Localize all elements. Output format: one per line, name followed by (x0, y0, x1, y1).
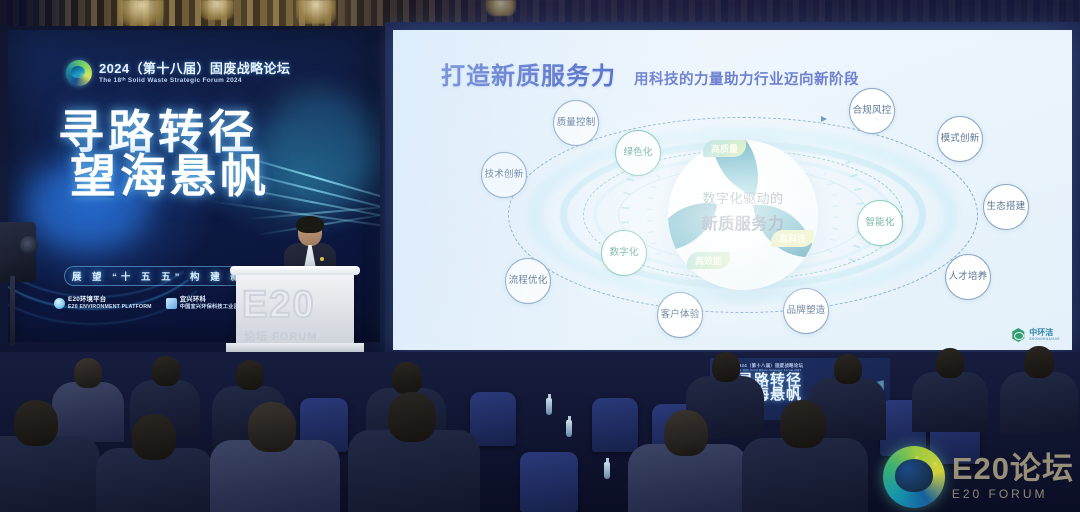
square-mark-icon (166, 298, 177, 309)
e20-circle-mark-icon (54, 298, 65, 309)
logo-dots (913, 454, 939, 480)
hexagon-leaf-icon (1011, 328, 1025, 342)
node-digitalization[interactable]: 数字化 (601, 230, 647, 276)
node-compliance-risk[interactable]: 合规风控 (849, 88, 895, 134)
sponsor-name: 宜兴环科 (180, 296, 239, 304)
slide-canvas: 打造新质服务力 用科技的力量助力行业迈向新阶段 (393, 30, 1072, 350)
audience-person-front (0, 436, 100, 512)
audience-head (74, 358, 102, 388)
node-process-optimize[interactable]: 流程优化 (505, 258, 551, 304)
node-intelligence[interactable]: 智能化 (857, 200, 903, 246)
camera-tripod (10, 276, 15, 346)
sphere-tag-quality: 高质量 (703, 140, 746, 157)
sponsor-text: E20环境平台 E20 ENVIRONMENT PLATFORM (68, 296, 152, 311)
node-brand-building[interactable]: 品牌塑造 (783, 288, 829, 334)
audience-chair (470, 392, 516, 446)
podium-top-surface (230, 266, 360, 275)
audience-chair (520, 452, 578, 512)
slide-title: 打造新质服务力 (441, 56, 616, 91)
audience-person-front (742, 438, 868, 512)
audience-head (392, 362, 422, 394)
glasses-icon (300, 228, 320, 233)
slide-corner-logo: 中环洁 ZHONGHUANJIE (1011, 328, 1060, 342)
backdrop-headline: 寻路转径 望海悬帆 (58, 110, 348, 198)
audience-person (52, 382, 124, 442)
secondary-title-cn: 2024（第十八届）固废战略论坛 (736, 363, 803, 368)
slide-header: 打造新质服务力 用科技的力量助力行业迈向新阶段 (441, 56, 859, 91)
audience-head (1024, 346, 1054, 378)
node-model-innovation[interactable]: 模式创新 (937, 116, 983, 162)
forum-title-en: The 18ᵗʰ Solid Waste Strategic Forum 202… (99, 77, 290, 84)
sponsor-desc: 中国宜兴环保科技工业园 (180, 304, 239, 310)
watermark-sub: E20 FORUM (952, 487, 1074, 501)
audience-person-front (348, 430, 480, 512)
water-bottle (604, 462, 610, 479)
watermark: E20论坛 E20 FORUM (883, 446, 1074, 508)
audience-head (834, 354, 862, 384)
audience-head (236, 360, 264, 390)
sphere-tag-efficiency: 高效能 (687, 252, 730, 269)
node-customer-exp[interactable]: 客户体验 (657, 292, 703, 338)
audience-head (936, 348, 964, 378)
audience-chair (592, 398, 638, 452)
audience-head (132, 414, 176, 460)
chandelier-light (200, 0, 234, 20)
chandelier-light (486, 0, 516, 16)
audience-head (712, 352, 740, 382)
water-bottle (566, 420, 572, 437)
sponsor-logo: 宜兴环科 中国宜兴环保科技工业园 (166, 296, 239, 311)
audience-head (664, 410, 708, 456)
forum-title-cn: 2024（第十八届）固废战略论坛 (99, 62, 290, 76)
corner-logo-desc: ZHONGHUANJIE (1029, 338, 1060, 342)
e20-forum-logo-icon (883, 446, 945, 508)
node-talent-training[interactable]: 人才培养 (945, 254, 991, 300)
audience-head (248, 402, 296, 452)
chandelier-light (296, 0, 336, 24)
audience-head (388, 392, 436, 442)
audience-person (1000, 372, 1078, 434)
node-greening[interactable]: 绿色化 (615, 130, 661, 176)
slide-corner-logo-text: 中环洁 ZHONGHUANJIE (1029, 329, 1060, 342)
corner-logo-name: 中环洁 (1029, 328, 1053, 337)
lapel-pin-icon (320, 257, 324, 261)
headline-line-2: 望海悬帆 (70, 154, 348, 198)
orbit-arrow-icon (821, 116, 827, 122)
node-ecosystem-build[interactable]: 生态搭建 (983, 184, 1029, 230)
watermark-main: E20论坛 (952, 453, 1074, 484)
sphere-tag-tech: 高科技 (771, 230, 814, 247)
podium-logo-text: E20 (242, 284, 348, 326)
screenshot-stage: 2024（第十八届）固废战略论坛 The 18ᵗʰ Solid Waste St… (0, 0, 1080, 512)
audience-person (912, 372, 988, 432)
headline-line-1: 寻路转径 (58, 110, 348, 154)
secondary-screen-header: 2024（第十八届）固废战略论坛 The 18th Solid Waste St… (736, 363, 803, 372)
audience-head (780, 400, 826, 448)
sphere-line-1: 数字化驱动的 (702, 191, 783, 206)
chandelier-light (118, 0, 164, 26)
sponsor-name: E20环境平台 (68, 296, 152, 304)
water-bottle (546, 398, 552, 415)
orbit-diagram: 数字化驱动的 新质服务力 高质量 高科技 高效能 质量控制 合规风控 模式创新 … (453, 90, 1033, 340)
globe-leaf-emblem-icon (66, 60, 92, 86)
audience-head (14, 400, 58, 446)
video-camera (0, 222, 36, 282)
sponsor-logo: E20环境平台 E20 ENVIRONMENT PLATFORM (54, 296, 152, 311)
podium: E20 论坛 FORUM (236, 272, 354, 354)
podium-sub-text: 论坛 FORUM (244, 328, 317, 344)
audience-head (152, 356, 180, 386)
sphere-text: 数字化驱动的 新质服务力 (668, 188, 818, 234)
slide-subtitle: 用科技的力量助力行业迈向新阶段 (634, 68, 859, 89)
backdrop-logo: 2024（第十八届）固废战略论坛 The 18ᵗʰ Solid Waste St… (66, 60, 290, 86)
watermark-text: E20论坛 E20 FORUM (952, 453, 1074, 501)
node-quality-control[interactable]: 质量控制 (553, 100, 599, 146)
projection-screen: 打造新质服务力 用科技的力量助力行业迈向新阶段 (385, 22, 1080, 360)
sponsor-desc: E20 ENVIRONMENT PLATFORM (68, 304, 152, 310)
sponsor-text: 宜兴环科 中国宜兴环保科技工业园 (180, 296, 239, 311)
node-tech-innovation[interactable]: 技术创新 (481, 152, 527, 198)
